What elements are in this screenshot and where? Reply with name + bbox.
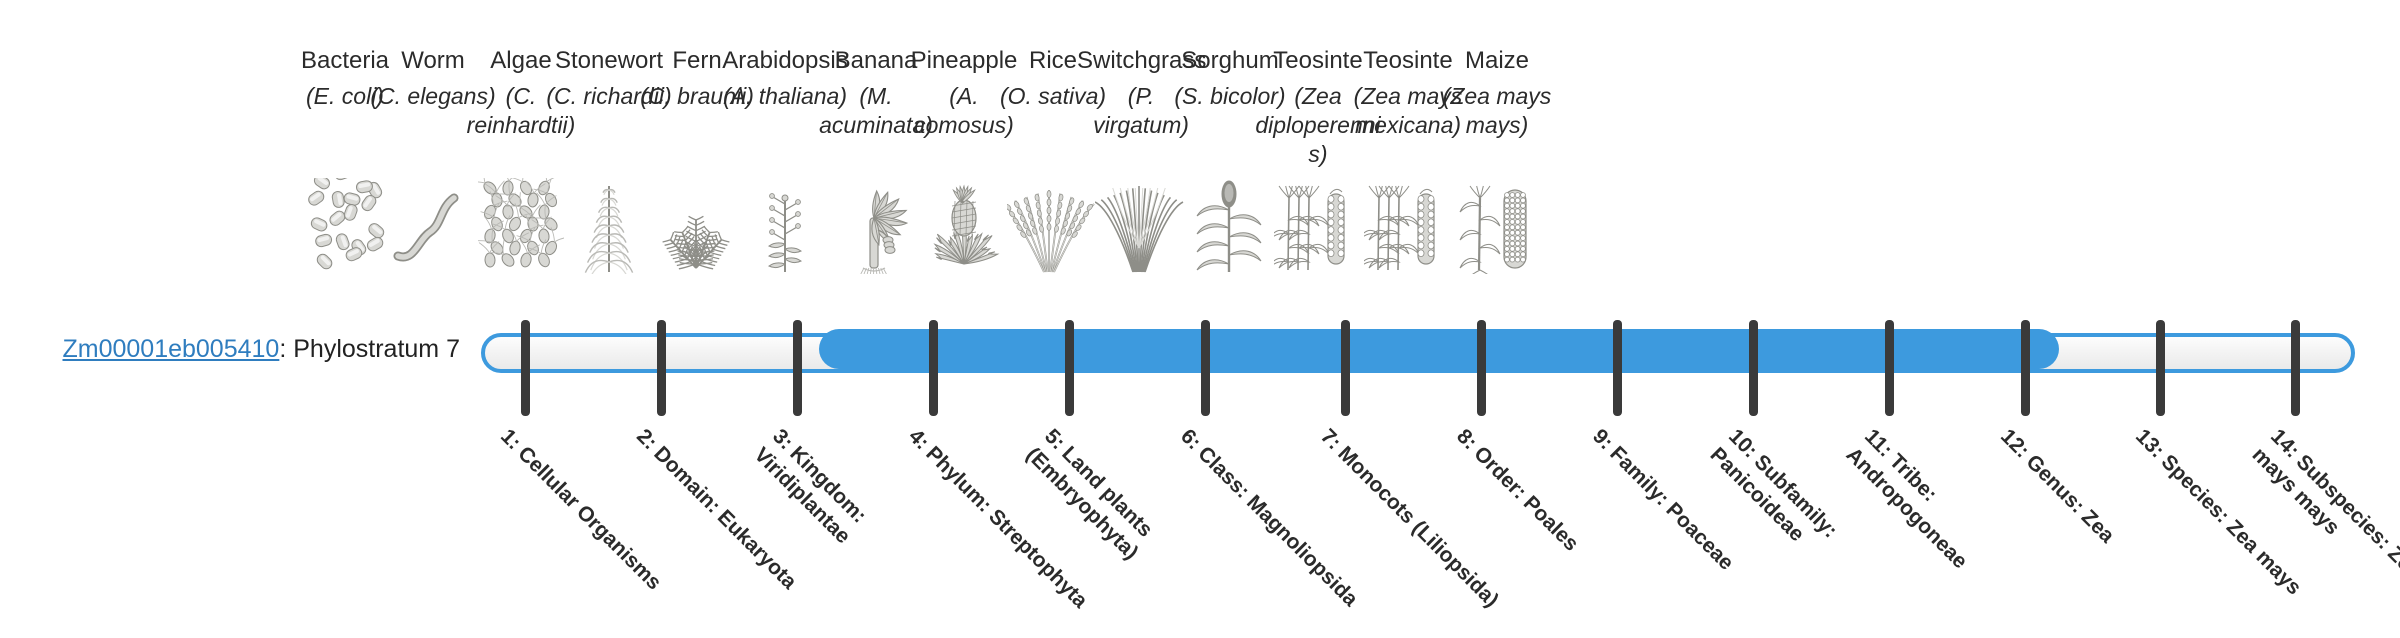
tick-mark: [1341, 320, 1350, 416]
rank-label: 14: Subspecies: Zea mays mays: [2246, 424, 2400, 638]
species-column: Maize(Zea mays mays): [1433, 46, 1561, 140]
tick-mark: [2156, 320, 2165, 416]
phylostratum-figure: Zm00001eb005410: Phylostratum 7 Bacteria…: [0, 0, 2400, 580]
tick-mark: [657, 320, 666, 416]
maize-plant-ear-icon: [1437, 178, 1557, 274]
phylostratum-bar-fill: [819, 329, 2059, 369]
species-columns: Bacteria(E. coli)Worm(C. elegans)Algae(C…: [0, 0, 2400, 320]
tick-mark: [1613, 320, 1622, 416]
tick-mark: [2291, 320, 2300, 416]
gene-id-link[interactable]: Zm00001eb005410: [62, 335, 279, 363]
tick-mark: [929, 320, 938, 416]
gene-label-separator: :: [279, 335, 293, 363]
tick-mark: [793, 320, 802, 416]
tick-mark: [521, 320, 530, 416]
phylostratum-value-text: Phylostratum 7: [293, 335, 460, 363]
gene-label: Zm00001eb005410: Phylostratum 7: [40, 334, 460, 364]
tick-mark: [1201, 320, 1210, 416]
tick-mark: [1065, 320, 1074, 416]
tick-mark: [2021, 320, 2030, 416]
tick-mark: [1477, 320, 1486, 416]
species-scientific-name: (Zea mays mays): [1433, 82, 1561, 140]
tick-mark: [1749, 320, 1758, 416]
tick-mark: [1885, 320, 1894, 416]
species-common-name: Maize: [1433, 46, 1561, 76]
